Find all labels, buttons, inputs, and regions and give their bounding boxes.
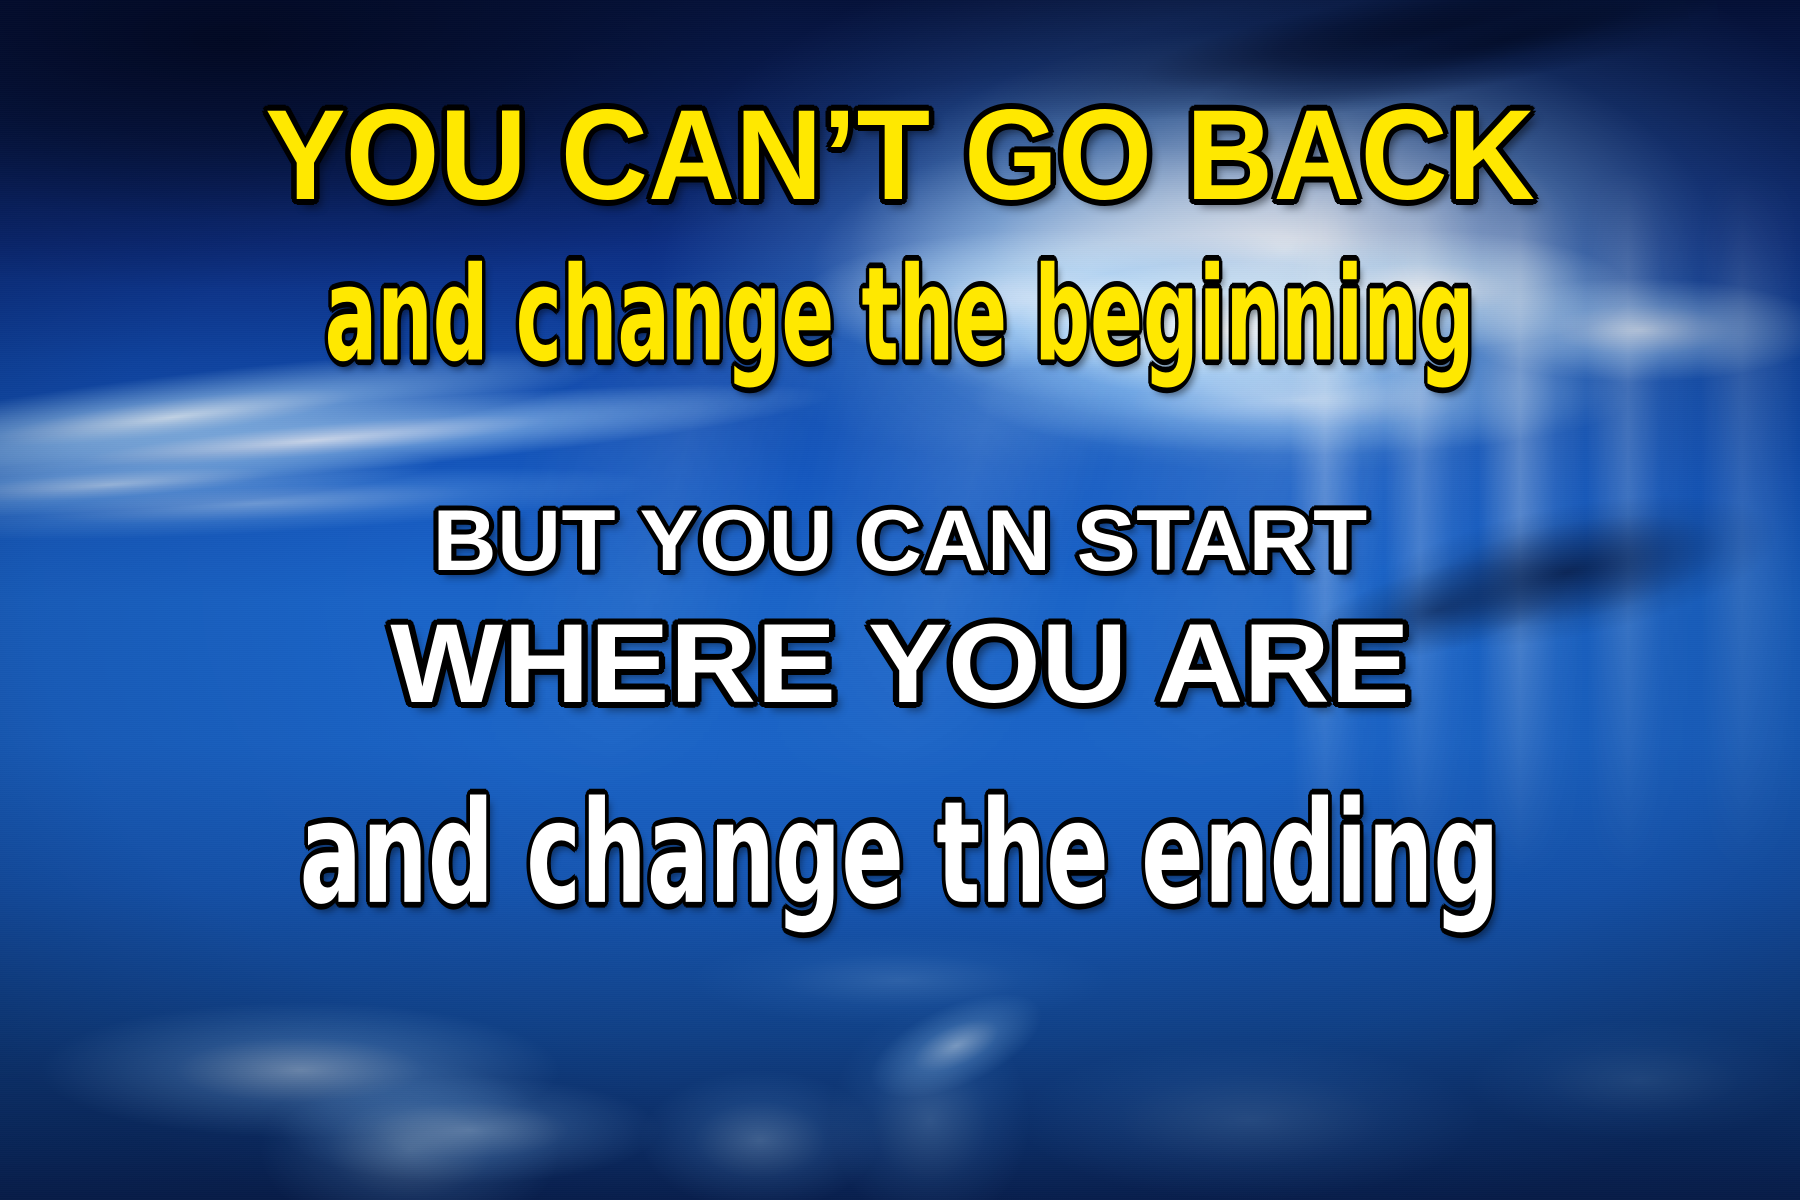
quote-line-4-text: WHERE YOU ARE xyxy=(390,608,1410,720)
quote-line-3-text: BUT YOU CAN START xyxy=(432,498,1367,584)
quote-line-4: WHERE YOU ARE xyxy=(0,608,1800,720)
quote-line-1-text: YOU CAN’T GO BACK xyxy=(265,92,1535,220)
quote-text-stack: YOU CAN’T GO BACK and change the beginni… xyxy=(0,0,1800,1200)
quote-line-5-text: and change the ending xyxy=(300,783,1500,924)
quote-line-3: BUT YOU CAN START xyxy=(0,498,1800,584)
quote-line-2-text: and change the beginning xyxy=(325,250,1475,380)
quote-poster: YOU CAN’T GO BACK and change the beginni… xyxy=(0,0,1800,1200)
quote-line-5: and change the ending xyxy=(0,792,1800,916)
quote-line-2: and change the beginning xyxy=(0,258,1800,373)
quote-line-1: YOU CAN’T GO BACK xyxy=(0,92,1800,220)
